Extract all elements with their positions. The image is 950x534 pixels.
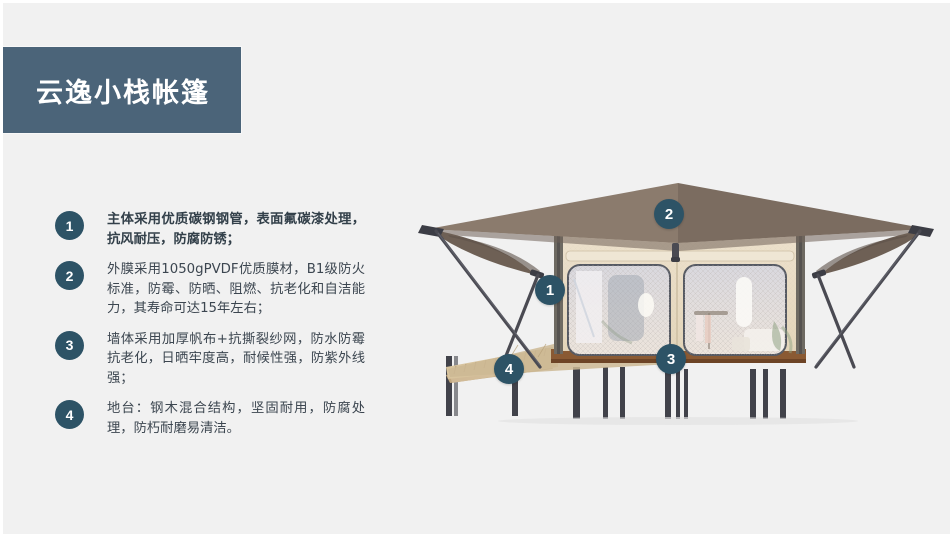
feature-item-3: 3 墙体采用加厚帆布+抗撕裂纱网，防水防霉抗老化，日晒牢度高，耐候性强，防紫外线…: [55, 330, 365, 389]
feature-list: 1 主体采用优质碳钢钢管，表面氟碳漆处理，抗风耐压，防腐防锈； 2 外膜采用10…: [55, 210, 365, 449]
feature-badge-4: 4: [55, 400, 84, 429]
feature-text-1: 主体采用优质碳钢钢管，表面氟碳漆处理，抗风耐压，防腐防锈；: [107, 210, 365, 249]
feature-badge-1: 1: [55, 211, 84, 240]
marker-2[interactable]: 2: [654, 199, 684, 229]
window-right: [684, 265, 791, 355]
feature-item-1: 1 主体采用优质碳钢钢管，表面氟碳漆处理，抗风耐压，防腐防锈；: [55, 210, 365, 249]
roof-apex-fitting: [671, 243, 680, 262]
window-left: [568, 265, 670, 355]
marker-1[interactable]: 1: [535, 275, 565, 305]
feature-text-2: 外膜采用1050gPVDF优质膜材，B1级防火标准，防霉、防晒、阻燃、抗老化和自…: [107, 260, 365, 319]
feature-text-4: 地台：钢木混合结构，坚固耐用，防腐处理，防朽耐磨易清洁。: [107, 399, 365, 438]
slide-canvas: 云逸小栈帐篷 1 主体采用优质碳钢钢管，表面氟碳漆处理，抗风耐压，防腐防锈； 2…: [0, 0, 950, 534]
feature-badge-3: 3: [55, 331, 84, 360]
page-title: 云逸小栈帐篷: [36, 71, 210, 110]
feature-badge-2: 2: [55, 261, 84, 290]
feature-item-2: 2 外膜采用1050gPVDF优质膜材，B1级防火标准，防霉、防晒、阻燃、抗老化…: [55, 260, 365, 319]
marker-3[interactable]: 3: [656, 344, 686, 374]
marker-4[interactable]: 4: [494, 354, 524, 384]
feature-item-4: 4 地台：钢木混合结构，坚固耐用，防腐处理，防朽耐磨易清洁。: [55, 399, 365, 438]
feature-text-3: 墙体采用加厚帆布+抗撕裂纱网，防水防霉抗老化，日晒牢度高，耐候性强，防紫外线强；: [107, 330, 365, 389]
title-banner: 云逸小栈帐篷: [3, 47, 241, 133]
